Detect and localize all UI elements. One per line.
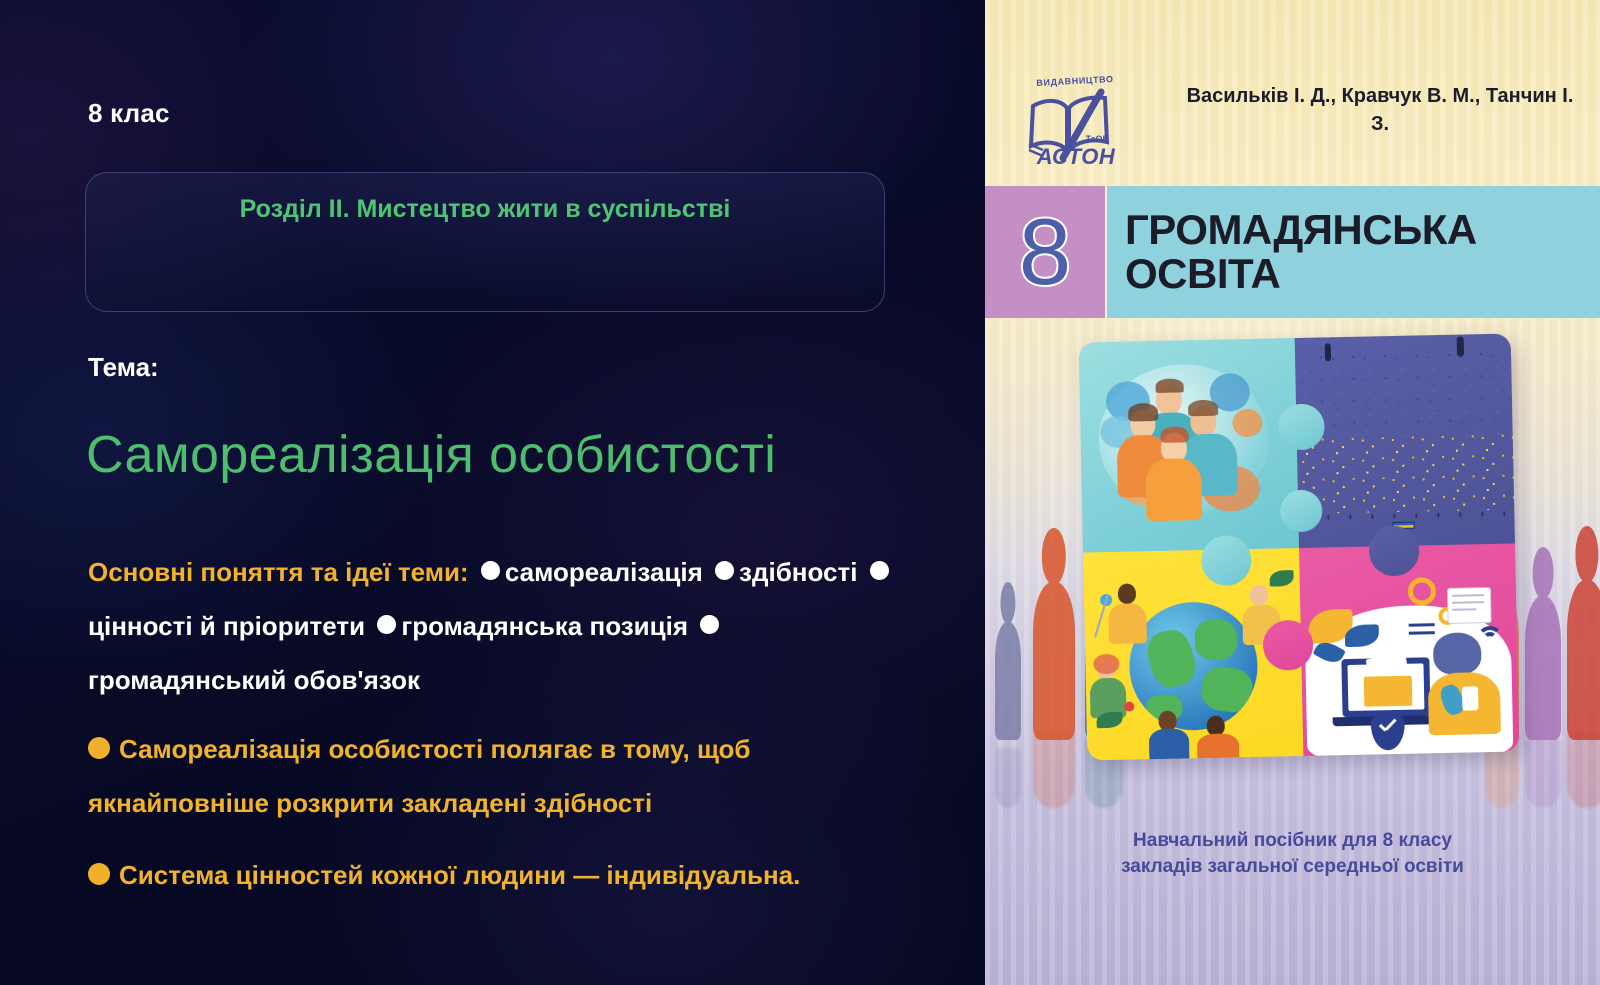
grade-label: 8 клас (88, 98, 170, 129)
statement-paragraph: Самореалізація особистості полягає в том… (88, 722, 918, 830)
cover-authors: Васильків І. Д., Кравчук В. М., Танчин І… (1180, 82, 1580, 138)
section-title-box: Розділ II. Мистецтво жити в суспільстві (85, 172, 885, 312)
section-title-text: Розділ II. Мистецтво жити в суспільстві (86, 195, 884, 224)
bullet-dot-icon (481, 561, 500, 580)
topic-label: Тема: (88, 352, 159, 383)
cover-caption-line-1: Навчальний посібник для 8 класу (985, 828, 1600, 854)
cover-grade-badge: 8 (985, 186, 1105, 318)
concept-item: громадянський обов'язок (88, 665, 420, 695)
textbook-cover-image: ВИДАВНИЦТВО ТзОВ АСТОН Васильків І. Д., … (985, 0, 1600, 985)
page-title: Самореалізація особистості (86, 425, 776, 485)
bullet-dot-icon (88, 737, 110, 759)
cover-title-line-2: ОСВІТА (1125, 252, 1600, 296)
bullet-dot-icon (377, 615, 396, 634)
puzzle-piece-digital (1299, 543, 1519, 755)
cover-title-line-1: ГРОМАДЯНСЬКА (1125, 208, 1600, 252)
concept-item: громадянська позиція (401, 611, 688, 641)
bullet-dot-icon (700, 615, 719, 634)
puzzle-illustration (1079, 334, 1520, 761)
cover-grade-number: 8 (1019, 205, 1071, 299)
bullet-dot-icon (870, 561, 889, 580)
cover-caption-line-2: закладів загальної середньої освіти (985, 854, 1600, 880)
bullet-dot-icon (715, 561, 734, 580)
publisher-logo: ВИДАВНИЦТВО ТзОВ АСТОН (1013, 72, 1125, 182)
key-concepts-block: Основні поняття та ідеї теми: самореаліз… (88, 545, 918, 707)
presentation-slide: 8 клас Розділ II. Мистецтво жити в суспі… (0, 0, 1600, 985)
cover-caption: Навчальний посібник для 8 класу закладів… (985, 828, 1600, 880)
concept-item: самореалізація (505, 557, 703, 587)
statement-block-2: Система цінностей кожної людини — індиві… (88, 848, 918, 902)
publisher-form-label: ТзОВ (1086, 134, 1109, 144)
statement-paragraph: Система цінностей кожної людини — індиві… (88, 848, 918, 902)
publisher-name-label: АСТОН (1031, 144, 1121, 170)
slide-content-panel: 8 клас Розділ II. Мистецтво жити в суспі… (0, 0, 985, 985)
statement-block-1: Самореалізація особистості полягає в том… (88, 722, 918, 830)
puzzle-piece-youth (1079, 338, 1299, 552)
statement-text: Система цінностей кожної людини — індиві… (119, 860, 800, 890)
cover-title-band: ГРОМАДЯНСЬКА ОСВІТА (1107, 186, 1600, 318)
key-concepts-lead: Основні поняття та ідеї теми: (88, 557, 469, 587)
statement-text: Самореалізація особистості полягає в том… (88, 734, 750, 818)
puzzle-piece-crowd (1295, 334, 1515, 548)
bullet-dot-icon (88, 863, 110, 885)
concept-item: цінності й пріоритети (88, 611, 365, 641)
concept-item: здібності (739, 557, 857, 587)
key-concepts-paragraph: Основні поняття та ідеї теми: самореаліз… (88, 545, 918, 707)
